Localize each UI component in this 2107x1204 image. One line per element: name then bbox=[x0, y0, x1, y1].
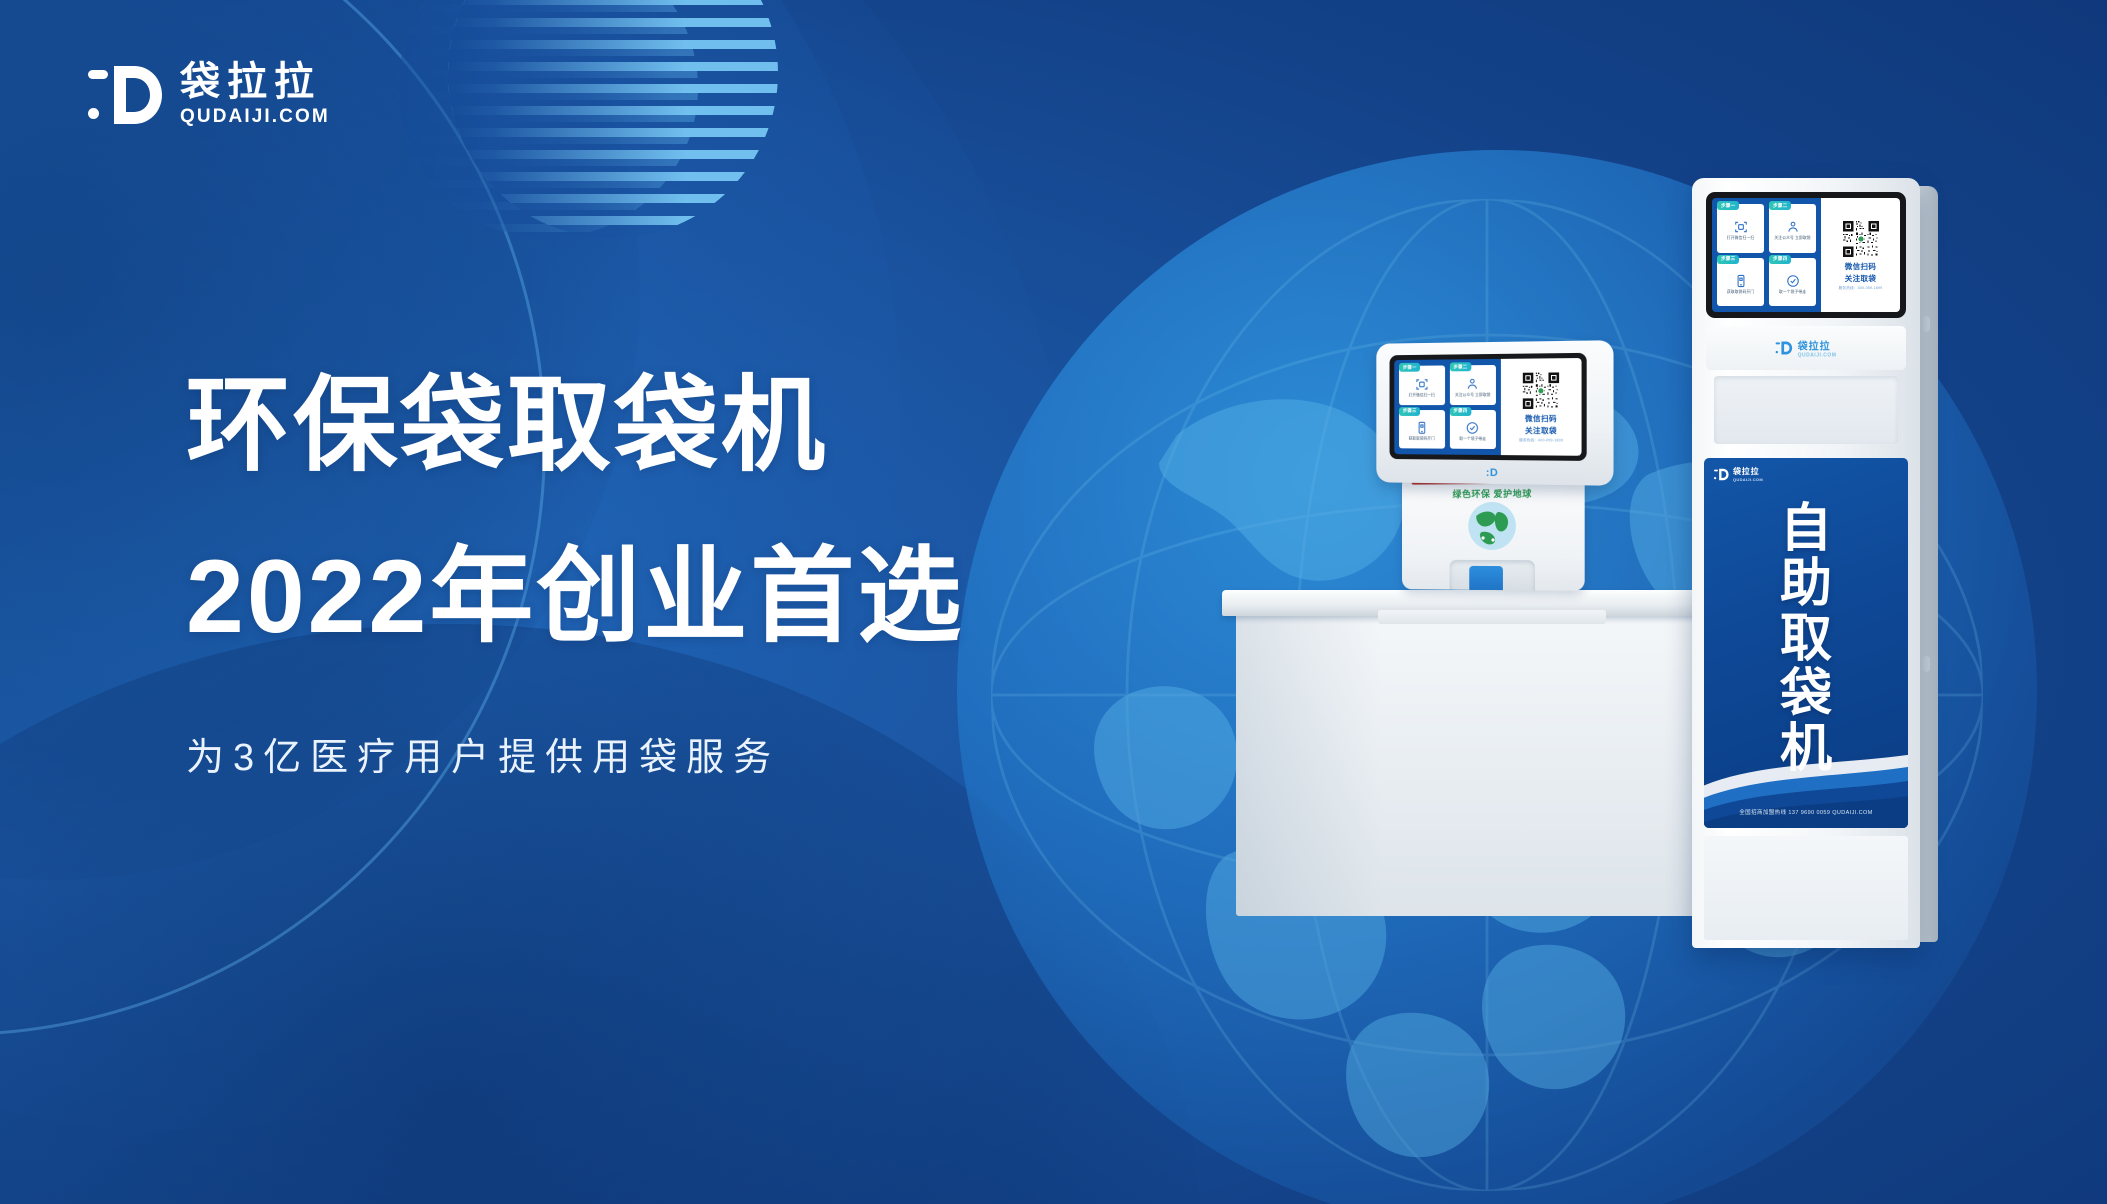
headline-line-1: 环保袋取袋机 bbox=[186, 372, 1186, 481]
follow-account-icon bbox=[1786, 220, 1800, 234]
step-card[interactable]: 步骤四 取一个袋子带走 bbox=[1450, 409, 1497, 449]
take-bag-icon bbox=[1466, 421, 1480, 435]
headline-line-2: 2022年创业首选 bbox=[186, 543, 1186, 652]
qr-cta-line-1: 微信扫码 bbox=[1525, 414, 1557, 423]
step-tag: 步骤二 bbox=[1450, 362, 1472, 371]
step-tag: 步骤三 bbox=[1399, 407, 1420, 416]
hotline-text: 服务热线：400-059-1899 bbox=[1519, 438, 1563, 443]
scan-qr-icon bbox=[1734, 220, 1748, 234]
step-label: 取一个袋子带走 bbox=[1457, 437, 1488, 442]
take-bag-icon bbox=[1786, 274, 1800, 288]
kiosk-main-body: 步骤一 打开微信扫一扫 步骤二 bbox=[1692, 178, 1920, 948]
screen-content: 步骤一 打开微信扫一扫 步骤二 bbox=[1712, 198, 1900, 312]
kiosk-brand-logo: 袋拉拉 QUDAIJI.COM bbox=[1776, 338, 1837, 359]
desktop-unit-base bbox=[1378, 610, 1606, 624]
kiosk-brand-bar: 袋拉拉 QUDAIJI.COM bbox=[1706, 326, 1906, 370]
kiosk-footer-contact: 全国招商加盟热线 137 9690 0059 QUDAIJI.COM bbox=[1704, 808, 1908, 816]
qudaiji-d-mark-icon bbox=[1776, 341, 1793, 356]
eco-slogan-text: 绿色环保 爱护地球 bbox=[1402, 486, 1585, 500]
floor-standing-bag-dispenser: 步骤一 打开微信扫一扫 步骤二 bbox=[1692, 178, 1938, 948]
striped-half-disc-icon bbox=[448, 0, 778, 238]
hero-text-block: 环保袋取袋机 2022年创业首选 为3亿医疗用户提供用袋服务 bbox=[186, 372, 1186, 781]
kiosk-base bbox=[1704, 836, 1908, 940]
bag-dispense-slot bbox=[1450, 560, 1535, 591]
step-tag: 步骤一 bbox=[1399, 363, 1420, 372]
step-card[interactable]: 步骤一 打开微信扫一扫 bbox=[1717, 204, 1764, 253]
screen-steps-panel: 步骤一 打开微信扫一扫 步骤二 bbox=[1394, 359, 1501, 455]
screen-content: 步骤一 打开微信扫一扫 步骤二 bbox=[1394, 358, 1581, 456]
phone-code-icon bbox=[1734, 274, 1748, 288]
screen-qr-panel: 微信扫码 关注取袋 服务热线：400-059-1899 bbox=[1501, 358, 1581, 456]
kiosk-panel-brand-url: QUDAIJI.COM bbox=[1733, 477, 1763, 482]
brand-logo[interactable]: 袋拉拉 QUDAIJI.COM bbox=[88, 62, 330, 128]
qr-cta-line-2: 关注取袋 bbox=[1525, 426, 1557, 435]
kiosk-blue-panel: 袋拉拉 QUDAIJI.COM 自助取袋机 全国招商加盟热线 137 9690 … bbox=[1704, 458, 1908, 828]
wechat-qr-code-icon[interactable] bbox=[1841, 219, 1881, 259]
step-card[interactable]: 步骤二 关注公众号 立即取袋 bbox=[1450, 365, 1497, 405]
kiosk-brand-name: 袋拉拉 bbox=[1798, 338, 1837, 353]
qudaiji-d-mark-icon bbox=[88, 62, 164, 128]
qr-cta-line-1: 微信扫码 bbox=[1845, 262, 1877, 271]
earth-icon bbox=[1468, 502, 1516, 550]
qudaiji-d-mark-icon bbox=[1714, 468, 1729, 481]
phone-code-icon bbox=[1415, 421, 1428, 435]
kiosk-bag-outlet bbox=[1714, 376, 1898, 444]
step-label: 获取取袋码开门 bbox=[1725, 290, 1756, 295]
desktop-unit-screen[interactable]: 步骤一 打开微信扫一扫 步骤二 bbox=[1390, 353, 1587, 461]
step-tag: 步骤一 bbox=[1717, 201, 1739, 210]
kiosk-panel-brand-name: 袋拉拉 bbox=[1733, 466, 1763, 477]
brand-name-cn: 袋拉拉 bbox=[180, 62, 330, 103]
step-label: 关注公众号 立即取袋 bbox=[1453, 393, 1492, 398]
step-card[interactable]: 步骤二 关注公众号 立即取袋 bbox=[1769, 204, 1816, 253]
desktop-unit-brand-mark: :D bbox=[1376, 466, 1613, 481]
step-label: 取一个袋子带走 bbox=[1777, 290, 1808, 295]
screen-steps-panel: 步骤一 打开微信扫一扫 步骤二 bbox=[1712, 198, 1821, 312]
step-tag: 步骤三 bbox=[1717, 255, 1739, 264]
step-tag: 步骤二 bbox=[1769, 201, 1791, 210]
step-label: 打开微信扫一扫 bbox=[1725, 236, 1756, 241]
hotline-text: 服务热线：400-059-1899 bbox=[1839, 286, 1883, 291]
kiosk-brand-url: QUDAIJI.COM bbox=[1798, 353, 1837, 359]
step-card[interactable]: 步骤三 获取取袋码开门 bbox=[1717, 258, 1764, 307]
step-card[interactable]: 步骤四 取一个袋子带走 bbox=[1769, 258, 1816, 307]
step-tag: 步骤四 bbox=[1450, 407, 1472, 416]
kiosk-vertical-product-name: 自助取袋机 bbox=[1775, 502, 1837, 778]
desktop-bag-dispenser: 绿色环保 爱护地球 bbox=[1372, 342, 1612, 612]
kiosk-screen[interactable]: 步骤一 打开微信扫一扫 步骤二 bbox=[1706, 192, 1906, 318]
step-tag: 步骤四 bbox=[1769, 255, 1791, 264]
blue-bag-visible bbox=[1469, 566, 1503, 591]
step-card[interactable]: 步骤三 获取取袋码开门 bbox=[1399, 410, 1445, 449]
wechat-qr-code-icon[interactable] bbox=[1521, 370, 1561, 411]
step-label: 打开微信扫一扫 bbox=[1407, 393, 1437, 398]
screen-qr-panel: 微信扫码 关注取袋 服务热线：400-059-1899 bbox=[1821, 198, 1900, 312]
marketing-banner: 袋拉拉 QUDAIJI.COM 环保袋取袋机 2022年创业首选 为3亿医疗用户… bbox=[0, 0, 2107, 1204]
scan-qr-icon bbox=[1415, 377, 1428, 391]
desktop-unit-dispenser-body: 绿色环保 爱护地球 bbox=[1402, 477, 1585, 591]
kiosk-side-indicator-top bbox=[1923, 316, 1930, 332]
brand-url: QUDAIJI.COM bbox=[180, 106, 330, 128]
step-label: 获取取袋码开门 bbox=[1407, 437, 1437, 442]
subheadline: 为3亿医疗用户提供用袋服务 bbox=[186, 726, 1186, 781]
kiosk-side-indicator-bottom bbox=[1923, 656, 1930, 672]
kiosk-panel-logo: 袋拉拉 QUDAIJI.COM bbox=[1714, 466, 1763, 482]
follow-account-icon bbox=[1466, 377, 1480, 391]
desktop-unit-head: 步骤一 打开微信扫一扫 步骤二 bbox=[1376, 340, 1613, 486]
step-label: 关注公众号 立即取袋 bbox=[1772, 236, 1812, 241]
qr-cta-line-2: 关注取袋 bbox=[1845, 274, 1877, 283]
step-card[interactable]: 步骤一 打开微信扫一扫 bbox=[1399, 365, 1445, 404]
